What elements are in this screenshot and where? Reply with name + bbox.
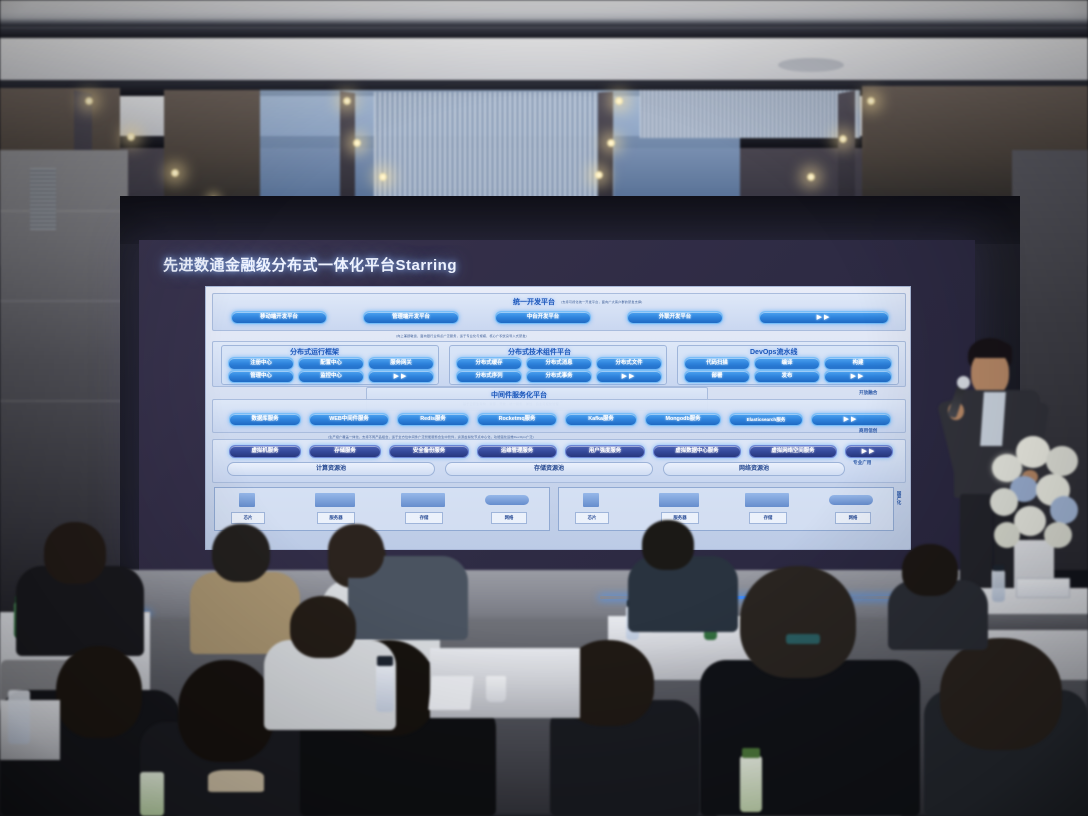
attendee-lanyard <box>786 634 820 644</box>
presenter-hair-front <box>970 340 1012 358</box>
pool-compute: 计算资源池 <box>227 462 435 476</box>
pill-service-gateway[interactable]: 服务网关 <box>368 357 434 370</box>
bottle-cap <box>377 656 393 666</box>
network-icon <box>829 495 873 505</box>
hardware-group-right: 芯片 服务器 存储 网络 <box>558 487 894 531</box>
ceiling-dark-strip-1 <box>0 28 1088 38</box>
attendee-head <box>328 524 384 578</box>
ceiling-spotlight <box>126 132 136 142</box>
pill-mobile-dev[interactable]: 移动端开发平台 <box>231 311 327 324</box>
panel-distributed-components: 分布式技术组件平台 分布式缓存 分布式消息 分布式文件 分布式序列 分布式事务 … <box>449 345 667 385</box>
attendee-head <box>642 520 694 570</box>
wall-air-grille <box>30 168 56 230</box>
handout-paper <box>428 676 474 710</box>
pill-distributed-transaction[interactable]: 分布式事务 <box>526 370 592 383</box>
pill-build[interactable]: 构建 <box>824 357 892 370</box>
pill-release[interactable]: 发布 <box>754 370 820 383</box>
slide-row-unified-dev: 统一开发平台 (支持可视化统一开发平台，面向广大客户群的研发支撑) 移动端开发平… <box>212 293 906 331</box>
name-card <box>1016 578 1070 598</box>
pill-more-virtualization[interactable]: ▶▶ <box>845 445 893 458</box>
hw-cell-storage: 存储 <box>405 512 443 524</box>
ceiling-spotlight <box>606 138 616 148</box>
ceiling-spotlight <box>84 96 94 106</box>
pool-storage: 存储资源池 <box>445 462 653 476</box>
side-tag-open-fusion: 开放融合 <box>859 390 877 396</box>
ceiling-spotlight <box>170 168 180 178</box>
microphone-head <box>957 376 970 389</box>
water-bottle <box>8 690 30 744</box>
caption-unified-dev: (向上兼顾敏捷、面向银行业特点广泛服务，适于专业化与规模、核心广积优良导入式研发… <box>396 333 527 338</box>
panel-devops-pipeline: DevOps流水线 代码扫描 编译 构建 部署 发布 ▶▶ <box>677 345 899 385</box>
pill-registry-center[interactable]: 注册中心 <box>228 357 294 370</box>
bottle-cap <box>742 748 760 758</box>
flower-bloom <box>1046 446 1078 476</box>
flower-bloom <box>990 488 1018 516</box>
network-icon <box>485 495 529 505</box>
flower-bloom <box>1016 436 1050 468</box>
pill-virtual-network-service[interactable]: 虚拟网络空间服务 <box>749 445 837 458</box>
ceiling-louver-right <box>640 90 860 138</box>
wall-panel-line <box>0 400 128 402</box>
wall-panel-line <box>0 300 128 302</box>
pill-external-dev[interactable]: 外联开发平台 <box>627 311 723 324</box>
pill-deploy[interactable]: 部署 <box>684 370 750 383</box>
water-bottle <box>992 570 1005 602</box>
pill-admin-dev[interactable]: 管理端开发平台 <box>363 311 459 324</box>
pill-distributed-file[interactable]: 分布式文件 <box>596 357 662 370</box>
pill-monitor-center[interactable]: 监控中心 <box>298 370 364 383</box>
pill-more-unified-dev[interactable]: ▶▶ <box>759 311 889 324</box>
pill-database-service[interactable]: 数据库服务 <box>229 413 301 426</box>
flower-bloom <box>994 522 1020 548</box>
hw-cell-storage: 存储 <box>749 512 787 524</box>
pill-distributed-cache[interactable]: 分布式缓存 <box>456 357 522 370</box>
pill-vm-service[interactable]: 虚拟机服务 <box>229 445 301 458</box>
ceiling <box>0 0 1088 200</box>
hardware-group-left: 芯片 服务器 存储 网络 <box>214 487 550 531</box>
back-wall-upper-band <box>120 196 1020 244</box>
pill-user-service[interactable]: 用户强度服务 <box>565 445 645 458</box>
ceiling-light-strip-1 <box>0 38 1088 80</box>
attendee-head-ponytail <box>178 660 274 762</box>
water-bottle <box>376 664 394 712</box>
panel-distributed-runtime: 分布式运行框架 注册中心 配置中心 服务网关 管理中心 监控中心 ▶▶ <box>221 345 439 385</box>
side-tag-professional: 专业广用 <box>853 460 871 466</box>
pill-ops-management-service[interactable]: 运维管理服务 <box>477 445 557 458</box>
slide-title: 先进数通金融级分布式一体化平台Starring <box>163 254 457 275</box>
pill-manage-center[interactable]: 管理中心 <box>228 370 294 383</box>
pill-storage-service[interactable]: 存储服务 <box>309 445 381 458</box>
ceiling-spotlight <box>342 96 352 106</box>
flower-bloom-blue <box>1050 496 1078 524</box>
attendee-head <box>290 596 356 658</box>
presentation-screen: 先进数通金融级分布式一体化平台Starring 统一开发平台 (支持可视化统一开… <box>139 240 975 572</box>
pill-web-middleware-service[interactable]: WEB中间件服务 <box>309 413 389 426</box>
pill-kafka-service[interactable]: Kafka服务 <box>565 413 637 426</box>
pill-distributed-message[interactable]: 分布式消息 <box>526 357 592 370</box>
pill-midplatform-dev[interactable]: 中台开发平台 <box>495 311 591 324</box>
server-icon <box>315 493 355 507</box>
ceiling-louver-left <box>374 92 614 200</box>
ceiling-wood-beam-mid <box>164 90 260 200</box>
water-bottle <box>140 772 164 816</box>
ceiling-vent <box>778 58 844 72</box>
paper-cup <box>486 676 506 702</box>
pill-distributed-sequence[interactable]: 分布式序列 <box>456 370 522 383</box>
pill-config-center[interactable]: 配置中心 <box>298 357 364 370</box>
ceiling-spotlight <box>866 96 876 106</box>
attendee-torso-hoodie <box>700 660 920 816</box>
pill-more-devops[interactable]: ▶▶ <box>824 370 892 383</box>
storage-icon <box>745 493 789 507</box>
ceiling-spotlight <box>352 138 362 148</box>
hw-cell-server: 服务器 <box>317 512 355 524</box>
slide-row-middle: 分布式运行框架 注册中心 配置中心 服务网关 管理中心 监控中心 ▶▶ 分布式技… <box>212 341 906 387</box>
attendee-torso <box>628 556 738 632</box>
hw-cell-chip: 芯片 <box>575 512 609 524</box>
chip-icon <box>239 493 255 507</box>
pool-network: 网络资源池 <box>663 462 845 476</box>
wall-panel-line <box>0 210 128 212</box>
pill-compile[interactable]: 编译 <box>754 357 820 370</box>
flower-bloom <box>1044 522 1072 548</box>
side-tag-localization: 国产化 <box>896 491 902 505</box>
storage-icon <box>401 493 445 507</box>
attendee-head <box>740 566 856 678</box>
attendee-head <box>44 522 106 584</box>
hw-cell-network: 网络 <box>491 512 527 524</box>
side-tag-commercial: 商用信创 <box>859 428 877 434</box>
pill-elasticsearch-service[interactable]: Elasticsearch服务 <box>729 413 803 426</box>
ceiling-spotlight <box>838 134 848 144</box>
hw-cell-network: 网络 <box>835 512 871 524</box>
slide-content: 统一开发平台 (支持可视化统一开发平台，面向广大客户群的研发支撑) 移动端开发平… <box>205 286 911 550</box>
row-header-unified-dev: 统一开发平台 <box>513 297 555 307</box>
pill-more-components[interactable]: ▶▶ <box>596 370 662 383</box>
pill-code-scan[interactable]: 代码扫描 <box>684 357 750 370</box>
server-icon <box>659 493 699 507</box>
table-runner <box>980 614 1088 630</box>
pill-virtual-datacenter-service[interactable]: 虚拟数据中心服务 <box>653 445 741 458</box>
pill-more-middleware[interactable]: ▶▶ <box>811 413 891 426</box>
pill-backup-service[interactable]: 安全备份服务 <box>389 445 469 458</box>
panel-header-components: 分布式技术组件平台 <box>508 347 571 357</box>
ceiling-spotlight <box>594 170 604 180</box>
pill-redis-service[interactable]: Redis服务 <box>397 413 469 426</box>
ceiling-spotlight <box>806 172 816 182</box>
panel-header-runtime: 分布式运行框架 <box>290 347 339 357</box>
attendee-collar <box>208 770 264 792</box>
attendee-head <box>940 638 1062 750</box>
ceiling-spotlight <box>378 172 388 182</box>
slide-row-middleware: 数据库服务 WEB中间件服务 Redis服务 Rocketmq服务 Kafka服… <box>212 399 906 433</box>
attendee-head <box>56 646 142 738</box>
slide-row-virtualization: 虚拟机服务 存储服务 安全备份服务 运维管理服务 用户强度服务 虚拟数据中心服务… <box>212 439 906 483</box>
chip-icon <box>583 493 599 507</box>
conference-photo: 先进数通金融级分布式一体化平台Starring 统一开发平台 (支持可视化统一开… <box>0 0 1088 816</box>
pill-rocketmq-service[interactable]: Rocketmq服务 <box>477 413 557 426</box>
pill-more-runtime[interactable]: ▶▶ <box>368 370 434 383</box>
panel-header-devops: DevOps流水线 <box>750 347 797 357</box>
pill-mongodb-service[interactable]: Mongodb服务 <box>645 413 721 426</box>
hw-cell-chip: 芯片 <box>231 512 265 524</box>
attendee-head <box>902 544 958 596</box>
ceiling-spotlight <box>614 96 624 106</box>
row-note-unified-dev: (支持可视化统一开发平台，面向广大客户群的研发支撑) <box>561 299 643 304</box>
attendee-head <box>212 524 270 582</box>
ceiling-light-rail-4 <box>838 90 855 202</box>
bottle-cap <box>993 565 1004 571</box>
water-bottle <box>740 756 762 812</box>
